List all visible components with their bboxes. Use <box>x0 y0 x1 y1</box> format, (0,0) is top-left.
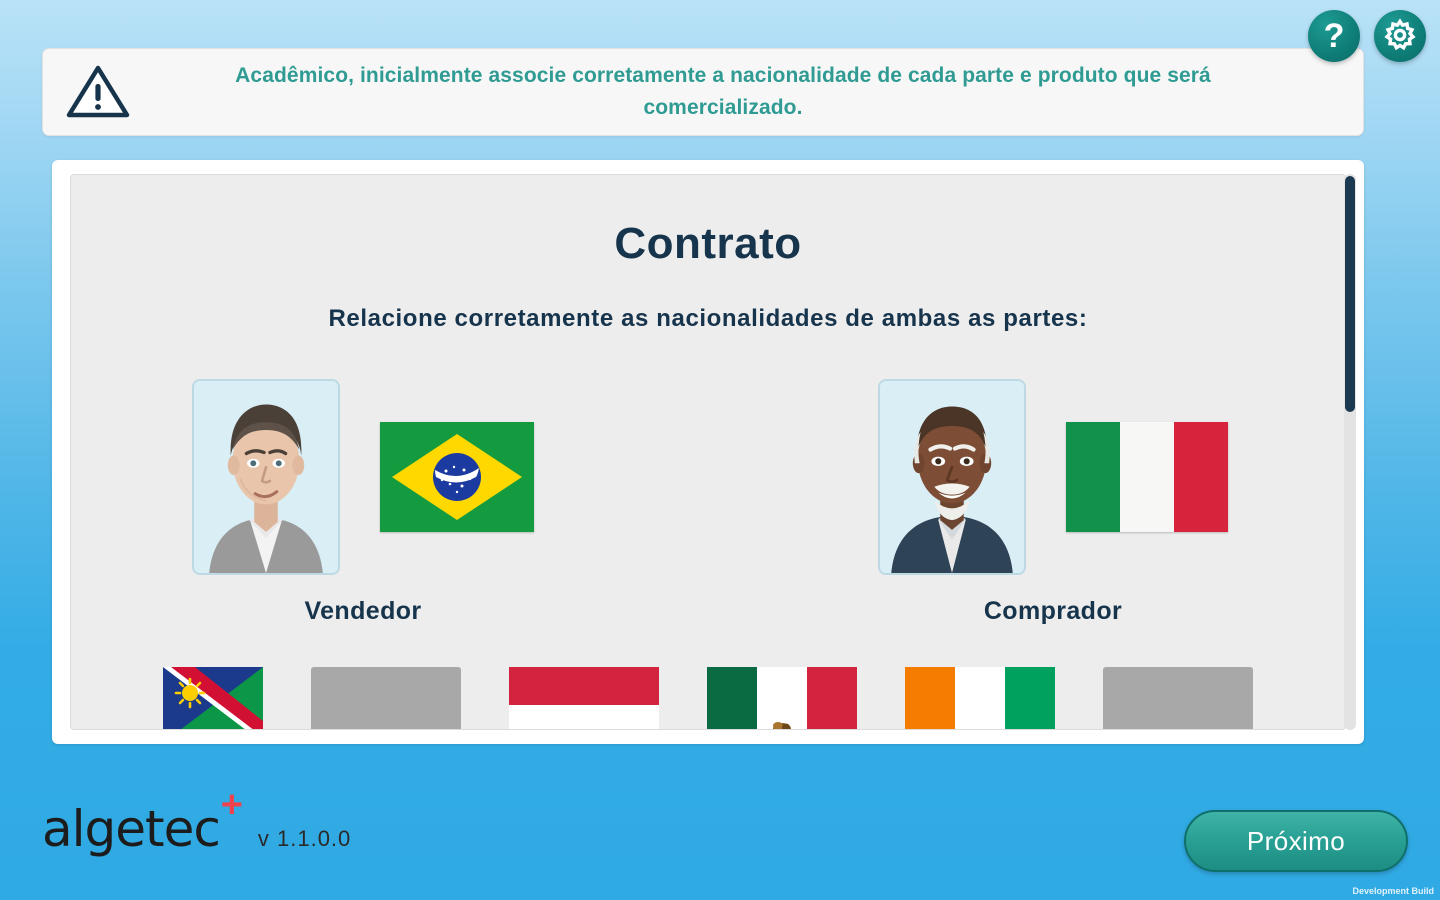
instruction-banner: Acadêmico, inicialmente associe corretam… <box>42 48 1364 136</box>
brand-logo: algetec + v 1.1.0.0 <box>42 800 351 858</box>
comprador-label: Comprador <box>853 597 1253 626</box>
tray-slot-indonesia[interactable] <box>509 667 659 730</box>
gear-icon <box>1383 18 1417 55</box>
ivory-coast-flag[interactable] <box>905 667 1055 730</box>
tray-slot-empty-1[interactable] <box>311 667 461 730</box>
party-comprador: Comprador <box>853 379 1253 626</box>
vendedor-label: Vendedor <box>163 597 563 626</box>
version-label: v 1.1.0.0 <box>258 826 351 852</box>
vendedor-portrait <box>192 379 340 575</box>
contract-panel: Contrato Relacione corretamente as nacio… <box>70 174 1346 730</box>
tray-slot-empty-2[interactable] <box>1103 667 1253 730</box>
question-mark-icon: ? <box>1324 19 1345 53</box>
brazil-flag[interactable] <box>380 422 534 532</box>
tray-slot-mexico[interactable] <box>707 667 857 730</box>
indonesia-flag[interactable] <box>509 667 659 730</box>
party-vendedor: Vendedor <box>163 379 563 626</box>
development-build-watermark: Development Build <box>1352 886 1434 896</box>
help-button[interactable]: ? <box>1308 10 1360 62</box>
page-subtitle: Relacione corretamente as nacionalidades… <box>71 305 1345 333</box>
tray-slot-namibia[interactable] <box>163 667 263 730</box>
next-button[interactable]: Próximo <box>1184 810 1408 872</box>
logo-plus-icon: + <box>221 784 242 827</box>
page-title: Contrato <box>71 219 1345 269</box>
namibia-flag[interactable] <box>163 667 263 730</box>
scrollbar-thumb[interactable] <box>1345 176 1355 412</box>
content-card: Contrato Relacione corretamente as nacio… <box>52 160 1364 744</box>
empty-slot[interactable] <box>1103 667 1253 730</box>
top-icon-bar: ? <box>1308 10 1426 62</box>
italy-flag[interactable] <box>1066 422 1228 532</box>
settings-button[interactable] <box>1374 10 1426 62</box>
comprador-portrait <box>878 379 1026 575</box>
logo-wordmark: algetec + <box>42 800 220 858</box>
logo-text: algetec <box>42 800 220 858</box>
mexico-flag[interactable] <box>707 667 857 730</box>
panel-scrollbar[interactable] <box>1344 174 1356 730</box>
flag-tray <box>71 667 1345 730</box>
instruction-text: Acadêmico, inicialmente associe corretam… <box>153 60 1363 124</box>
parties-row: Vendedor <box>71 379 1345 626</box>
empty-slot[interactable] <box>311 667 461 730</box>
tray-slot-ivory-coast[interactable] <box>905 667 1055 730</box>
warning-triangle-icon <box>43 63 153 121</box>
